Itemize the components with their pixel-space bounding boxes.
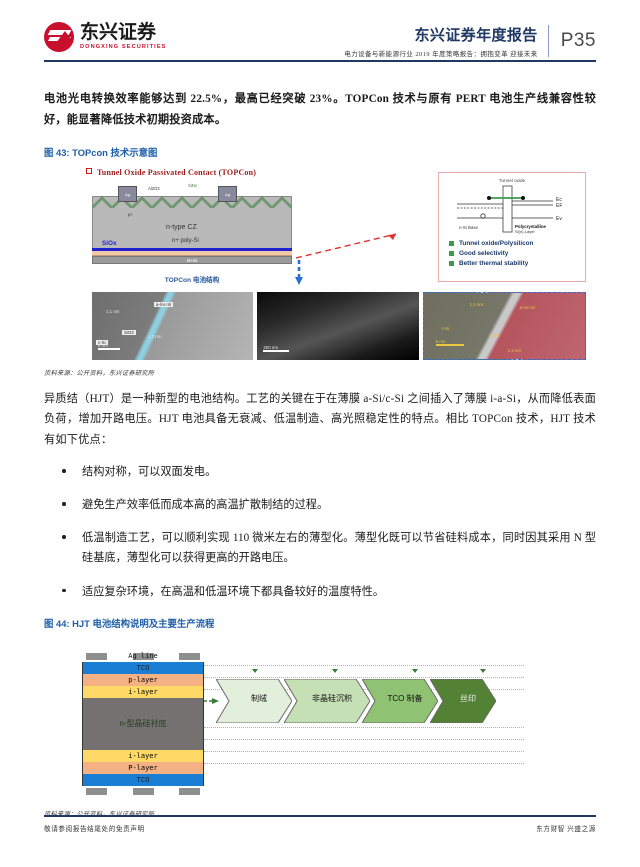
hjt-ag-line-label: Ag line (82, 652, 204, 660)
device-ag-pad-right: Ag (218, 186, 237, 202)
bullet-square-icon (449, 241, 454, 246)
sem1-label-ansi: a-/nc-Si (154, 302, 173, 307)
band-panel-bullets: Tunnel oxide/Polysilicon Good selectivit… (449, 240, 585, 267)
red-square-icon (86, 168, 92, 174)
device-al2o3-label: Al2O3 (148, 186, 160, 191)
device-poly-label: n+ poly-Si (172, 238, 199, 244)
list-item: 避免生产效率低而成本高的高温扩散制结的过程。 (44, 495, 596, 515)
sem3-label-12nm: 1.2 nm (508, 348, 521, 353)
list-item: 低温制造工艺，可以顺利实现 110 微米左右的薄型化。薄型化既可以节省硅料成本，… (44, 528, 596, 568)
sem3-label-csi: c-Si (442, 326, 450, 331)
sem-image-2: 200 nm (257, 292, 418, 360)
figure-43-caption: 图 43: TOPcon 技术示意图 (44, 145, 596, 159)
band-bullet-1: Good selectivity (449, 250, 585, 257)
figure-44-caption: 图 44: HJT 电池结构说明及主要生产流程 (44, 616, 596, 630)
footer-disclaimer: 敬请参阅报告结尾处的免责声明 (44, 823, 145, 833)
flow-tick-icon (332, 669, 338, 673)
dongxing-logo-icon (44, 22, 74, 52)
hjt-layer-p-top: p-layer (82, 674, 204, 686)
sem3-scalebar (436, 344, 464, 345)
header-titles: 东兴证券年度报告 电力设备与新能源行业 2019 年度策略报告：拥抱变革 迎接未… (344, 24, 547, 58)
topcon-diagram-title: Tunnel Oxide Passivated Contact (TOPCon) (86, 168, 256, 177)
process-step-label: 制绒 (216, 693, 292, 704)
process-step-label: 非晶硅沉积 (284, 693, 370, 704)
page-footer: 敬请参阅报告结尾处的免责声明 东方财智 兴盛之源 (44, 815, 596, 833)
logo-name-cn: 东兴证券 (80, 23, 166, 42)
sem-image-3: 1.1 nm a-/nc-Si c-Si SiO2 1.2 nm 5 nm (423, 292, 586, 360)
ag-finger (133, 788, 154, 795)
sem3-label-ansi: a-/nc-Si (520, 305, 535, 310)
bullet-square-icon (449, 251, 454, 256)
header-rule (44, 60, 596, 62)
company-logo: 东兴证券 DONGXING SECURITIES (44, 18, 166, 52)
page-content: 电池光电转换效率能够达到 22.5%，最高已经突破 23%。TOPCon 技术与… (0, 62, 640, 818)
hjt-top-contacts: Ag line (82, 653, 204, 662)
svg-text:Si(n)-Layer: Si(n)-Layer (515, 229, 535, 234)
process-step-label: TCO 制备 (362, 693, 438, 704)
sem1-scale-label: 5 nm (98, 343, 108, 348)
hjt-layer-tco-bottom: TCO (82, 774, 204, 786)
topcon-device-crosssection: Ag Ag Al2O3 SiNx p+ n-type CZ SiOx n+ po… (92, 186, 292, 268)
figure-43-source: 资料来源：公开资料，东兴证券研究所 (44, 368, 596, 377)
device-oxide-label: SiOx (102, 240, 117, 247)
device-metal-layer: Metal (92, 256, 292, 264)
flow-tick-icon (252, 669, 258, 673)
device-sinx-label: SiNx (188, 183, 197, 188)
sem-image-row: 1.1 nm a-/nc-Si SiO2 c-Si 1.2 nm 5 nm 20… (92, 292, 586, 360)
page-number: P35 (549, 30, 596, 52)
hjt-cell-stack: Ag line TCO p-layer i-layer n-型晶硅衬底 i-la… (82, 653, 204, 797)
hjt-layer-p-bottom: P-layer (82, 762, 204, 774)
guide-line-5 (204, 739, 524, 740)
svg-text:n-Si Base: n-Si Base (459, 225, 479, 230)
svg-text:Ev: Ev (556, 216, 562, 222)
hjt-layer-substrate: n-型晶硅衬底 (82, 698, 204, 750)
guide-line-7 (204, 763, 524, 764)
header-right: 东兴证券年度报告 电力设备与新能源行业 2019 年度策略报告：拥抱变革 迎接未… (344, 18, 596, 58)
figure-44: Ag line TCO p-layer i-layer n-型晶硅衬底 i-la… (44, 635, 596, 805)
stack-to-flow-arrow-icon (204, 697, 220, 705)
band-bullet-0: Tunnel oxide/Polysilicon (449, 240, 585, 247)
device-ag-pad-left: Ag (118, 186, 137, 202)
device-pplus-label: p+ (128, 212, 133, 217)
hjt-advantages-list: 结构对称，可以双面发电。 避免生产效率低而成本高的高温扩散制结的过程。 低温制造… (44, 462, 596, 602)
ag-finger (86, 788, 107, 795)
guide-line-6 (204, 751, 524, 752)
process-step-0: 制绒 (216, 679, 292, 723)
device-bulk-label: n-type CZ (166, 224, 197, 231)
guide-line-2 (204, 677, 524, 678)
guide-line-4 (204, 727, 524, 728)
hjt-layer-i-top: i-layer (82, 686, 204, 698)
hjt-bottom-contacts (82, 788, 204, 797)
sem3-scale-label: 5 nm (436, 339, 446, 344)
svg-text:EF: EF (556, 203, 562, 209)
sem1-label-1nm: 1.1 nm (106, 309, 119, 314)
sem2-scalebar (263, 350, 289, 351)
process-step-3: 丝印 (430, 679, 496, 723)
hjt-process-flow: 制绒 非晶硅沉积 TCO 制备 丝印 (216, 679, 496, 723)
guide-line-1 (204, 665, 524, 666)
band-tunnel-oxide-label: Tunnel oxide (439, 178, 585, 183)
bullet-square-icon (449, 261, 454, 266)
flow-tick-icon (412, 669, 418, 673)
band-diagram-svg: Ec EF Ev n-Si Base Polycrystalline Si(n)… (449, 184, 575, 236)
footer-row: 敬请参阅报告结尾处的免责声明 东方财智 兴盛之源 (44, 823, 596, 833)
list-item: 结构对称，可以双面发电。 (44, 462, 596, 482)
logo-text: 东兴证券 DONGXING SECURITIES (80, 23, 166, 51)
sem1-label-sio2: SiO2 (122, 330, 136, 335)
figure-43: Tunnel Oxide Passivated Contact (TOPCon)… (44, 164, 596, 364)
report-subtitle: 电力设备与新能源行业 2019 年度策略报告：拥抱变革 迎接未来 (344, 49, 537, 58)
intro-paragraph: 电池光电转换效率能够达到 22.5%，最高已经突破 23%。TOPCon 技术与… (44, 89, 596, 130)
figure-43-top: Tunnel Oxide Passivated Contact (TOPCon)… (44, 164, 596, 289)
connector-dashed-line (296, 230, 404, 260)
page-header: 东兴证券 DONGXING SECURITIES 东兴证券年度报告 电力设备与新… (0, 0, 640, 62)
report-title: 东兴证券年度报告 (344, 24, 537, 45)
hjt-layer-tco-top: TCO (82, 662, 204, 674)
band-diagram-panel: Tunnel oxide Ec EF Ev n-Si Bas (438, 172, 586, 282)
logo-name-en: DONGXING SECURITIES (80, 45, 166, 51)
device-caption: TOPCon 电池结构 (92, 274, 292, 284)
footer-slogan: 东方财智 兴盛之源 (536, 823, 596, 833)
process-step-label: 丝印 (430, 693, 496, 704)
topcon-title-text: Tunnel Oxide Passivated Contact (TOPCon) (97, 168, 256, 177)
sem2-scale-label: 200 nm (263, 345, 278, 350)
footer-rule (44, 815, 596, 817)
band-bullet-2: Better thermal stability (449, 260, 585, 267)
sem-image-1: 1.1 nm a-/nc-Si SiO2 c-Si 1.2 nm 5 nm (92, 292, 253, 360)
sem3-label-sio2: SiO2 (490, 333, 500, 338)
process-step-1: 非晶硅沉积 (284, 679, 370, 723)
sem1-label-12nm: 1.2 nm (148, 334, 161, 339)
flow-tick-icon (480, 669, 486, 673)
sem1-scalebar (98, 348, 120, 349)
down-arrow-icon (294, 260, 304, 286)
hjt-paragraph: 异质结（HJT）是一种新型的电池结构。工艺的关键在于在薄膜 a-Si/c-Si … (44, 389, 596, 451)
hjt-layer-i-bottom: i-layer (82, 750, 204, 762)
sem3-label-11nm: 1.1 nm (470, 302, 483, 307)
ag-finger (179, 788, 200, 795)
process-step-2: TCO 制备 (362, 679, 438, 723)
list-item: 适应复杂环境，在高温和低温环境下都具备较好的温度特性。 (44, 582, 596, 602)
